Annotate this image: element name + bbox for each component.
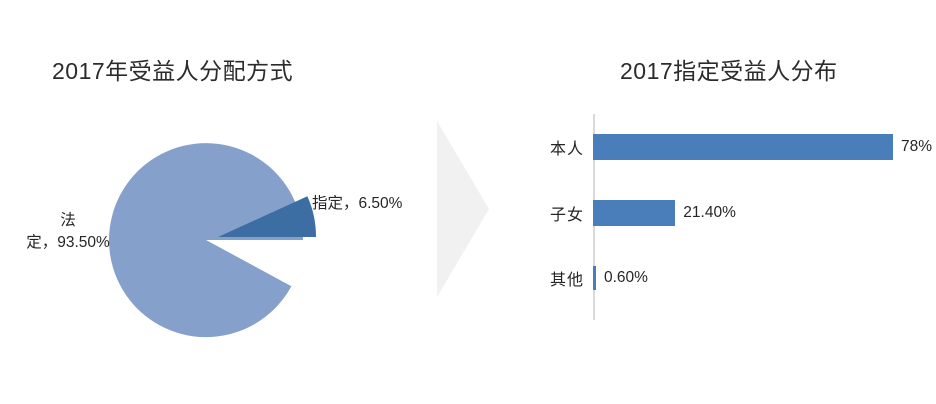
bar-category-label: 子女 (500, 201, 593, 225)
bar-chart-title: 2017指定受益人分布 (620, 58, 838, 86)
bar-chart-panel: 本人 78% 子女 21.40% 其他 0.60% (500, 112, 936, 327)
bar-category-label: 其他 (500, 266, 593, 290)
slide-canvas: 2017年受益人分配方式 2017指定受益人分布 法 定，93.50% 指定，6… (0, 0, 936, 404)
bar-category-label: 本人 (500, 135, 593, 159)
bar-row[interactable]: 子女 21.40% (500, 200, 936, 226)
pie-slice-legal[interactable] (109, 143, 303, 337)
pie-label-designated: 指定，6.50% (312, 193, 402, 215)
pie-chart-title: 2017年受益人分配方式 (52, 58, 293, 86)
pie-chart-panel: 法 定，93.50% 指定，6.50% (0, 110, 470, 350)
bar-value-label: 0.60% (596, 269, 648, 287)
bar-row[interactable]: 本人 78% (500, 134, 936, 160)
bar-fill[interactable] (593, 134, 893, 160)
pie-chart-graphic (95, 120, 325, 345)
bar-fill[interactable] (593, 200, 675, 226)
pie-label-legal: 法 定，93.50% (18, 210, 118, 255)
bar-row[interactable]: 其他 0.60% (500, 265, 936, 291)
bar-track: 21.40% (593, 200, 936, 226)
bar-value-label: 78% (893, 138, 932, 156)
right-arrow-icon (437, 121, 489, 297)
bar-track: 0.60% (593, 265, 936, 291)
bar-value-label: 21.40% (675, 204, 736, 222)
bar-track: 78% (593, 134, 936, 160)
